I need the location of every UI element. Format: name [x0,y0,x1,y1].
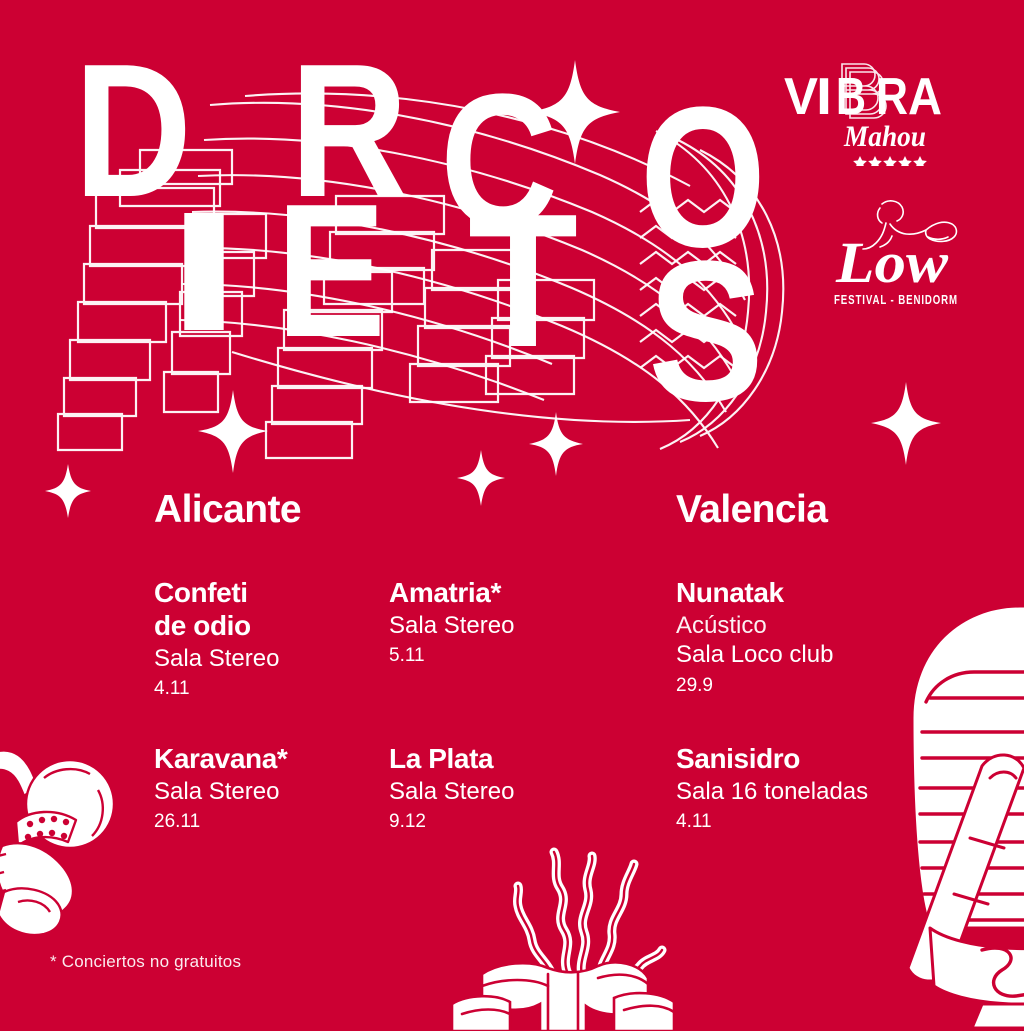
svg-text:I: I [816,68,832,126]
rock-geyser-illustration [448,846,678,1031]
gig-item-confeti-de-odio[interactable]: Confeti de odio Sala Stereo 4.11 [154,576,369,702]
gig-name: Amatria* [389,576,619,609]
gig-venue: Sala Loco club [676,640,926,669]
city-heading-alicante: Alicante [154,490,301,529]
gig-name: Confeti de odio [154,576,369,642]
gig-venue: Sala Stereo [154,644,369,673]
gig-listings: Alicante Valencia Confeti de odio Sala S… [0,490,1024,890]
astronaut-illustration [0,742,122,957]
gig-item-la-plata[interactable]: La Plata Sala Stereo 9.12 [389,742,619,835]
gig-date: 4.11 [676,809,926,835]
gig-subtitle: Acústico [676,611,926,640]
gig-name: Karavana* [154,742,369,775]
low-wordmark: Low [835,230,948,295]
svg-text:R: R [876,68,908,126]
vibra-mahou-logo: V I B R A Mahou [782,56,962,166]
gig-date: 26.11 [154,809,369,835]
gig-item-amatria[interactable]: Amatria* Sala Stereo 5.11 [389,576,619,669]
vibra-label: Mahou [843,120,926,153]
gig-date: 9.12 [389,809,619,835]
gig-name: Nunatak [676,576,926,609]
svg-text:B: B [836,68,866,126]
gig-item-karavana[interactable]: Karavana* Sala Stereo 26.11 [154,742,369,835]
gig-date: 5.11 [389,643,619,669]
gig-venue: Sala Stereo [389,611,619,640]
svg-text:T: T [468,175,578,387]
gig-venue: Sala Stereo [389,777,619,806]
gig-name: La Plata [389,742,619,775]
gig-name: Sanisidro [676,742,926,775]
svg-text:S: S [648,220,764,443]
gig-venue: Sala Stereo [154,777,369,806]
mahou-stars [853,156,927,166]
gig-item-sanisidro[interactable]: Sanisidro Sala 16 toneladas 4.11 [676,742,926,835]
svg-text:V: V [784,68,818,126]
gig-item-nunatak[interactable]: Nunatak Acústico Sala Loco club 29.9 [676,576,926,698]
city-heading-valencia: Valencia [676,490,827,529]
svg-text:Low: Low [835,230,948,295]
svg-text:A: A [908,68,942,126]
low-tagline: FESTIVAL - BENIDORM [834,292,958,307]
gig-date: 4.11 [154,676,369,702]
svg-text:I: I [166,177,242,367]
low-festival-logo: Low FESTIVAL - BENIDORM [820,196,970,314]
svg-text:Mahou: Mahou [843,120,926,153]
gig-venue: Sala 16 toneladas [676,777,926,806]
gig-date: 29.9 [676,673,926,699]
poster: .echo { fill:none; stroke:#ffffff; strok… [0,0,1024,1024]
vintage-microphone-illustration [890,598,1024,1028]
svg-text:FESTIVAL - BENIDORM: FESTIVAL - BENIDORM [834,292,958,307]
svg-text:E: E [276,165,386,377]
